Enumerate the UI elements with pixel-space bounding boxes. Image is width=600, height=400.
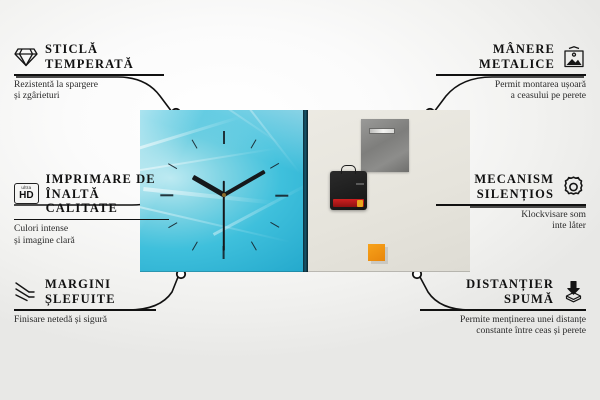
feature-rule [14,219,169,221]
feature-rule [436,204,586,206]
clock-tick [168,221,177,227]
feature-title: DISTANȚIER SPUMĂ [466,277,554,306]
feature-polished-edges: MARGINI ȘLEFUITE Finisare netedă și sigu… [14,277,156,325]
clock-tick [191,139,197,148]
down-arrow-stack-icon [561,280,586,303]
clock-tick [191,241,197,250]
feature-title: STICLĂ TEMPERATĂ [45,42,134,71]
mechanism-label [356,183,364,185]
clock-tick [250,241,256,250]
feature-subtitle: Rezistentă la spargere și zgârieturi [14,79,164,102]
feature-title: MÂNERE METALICE [479,42,555,71]
feature-silent-mechanism: MECANISM SILENȚIOS Klockvisare som inte … [436,172,586,232]
clock-second-hand [223,181,225,251]
feature-rule [436,74,586,76]
battery-plus-terminal [357,200,363,207]
clock-tick [270,162,279,168]
feature-tempered-glass: STICLĂ TEMPERATĂ Rezistentă la spargere … [14,42,164,102]
battery [333,199,364,207]
feature-title: IMPRIMARE DE ÎNALTĂ CALITATE [46,172,169,216]
metal-hanger-plate [361,119,409,172]
feature-subtitle: Finisare netedă și sigură [14,314,156,326]
hanger-slot [369,128,395,134]
polished-edges-icon [14,281,38,302]
feature-metal-handles: MÂNERE METALICE Permit montarea ușoară a… [436,42,586,102]
clock-tick [270,221,279,227]
feature-title: MARGINI ȘLEFUITE [45,277,116,306]
clock-center-cap [222,193,226,197]
feature-rule [14,309,156,311]
feature-high-quality-print: ultra HD IMPRIMARE DE ÎNALTĂ CALITATE Cu… [14,172,169,246]
feature-title: MECANISM SILENȚIOS [474,172,554,201]
infographic-canvas: STICLĂ TEMPERATĂ Rezistentă la spargere … [0,0,600,400]
clock-minute-hand [223,170,266,197]
feature-foam-spacer: DISTANȚIER SPUMĂ Permite menținerea unei… [420,277,586,337]
clock-tick [223,131,225,144]
panel-shadow [140,271,470,272]
ultra-hd-icon: ultra HD [14,183,39,204]
diamond-icon [14,47,38,67]
feature-subtitle: Permit montarea ușoară a ceasului pe per… [436,79,586,102]
feature-subtitle: Klockvisare som inte låter [436,209,586,232]
product-photo [140,110,470,272]
clock-tick [275,194,288,196]
clock-mechanism [330,171,367,210]
feature-rule [420,309,586,311]
tempered-glass-edge [303,110,308,272]
feature-subtitle: Culori intense și imagine clară [14,223,169,246]
foam-spacer [368,244,385,261]
feature-rule [14,74,164,76]
clock-tick [250,139,256,148]
hanger-loop [341,165,356,174]
picture-hanger-icon [562,46,586,68]
gear-icon [561,175,586,199]
feature-subtitle: Permite menținerea unei distanțe constan… [420,314,586,337]
